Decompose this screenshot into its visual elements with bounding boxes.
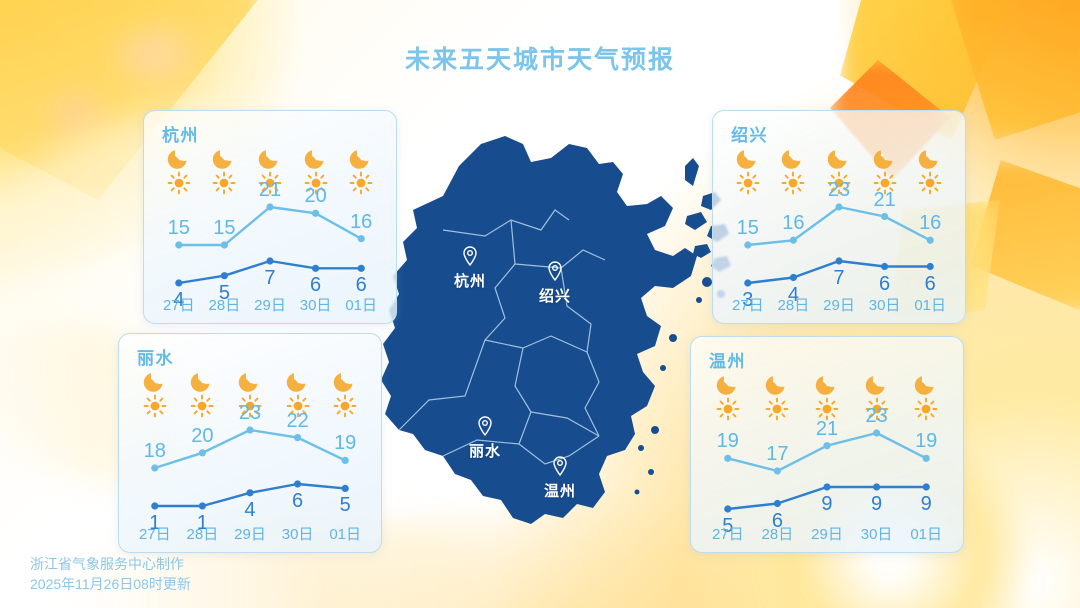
forecast-day-column: 21729日: [247, 111, 293, 323]
forecast-day-column: 17628日: [753, 337, 803, 552]
forecast-date-label: 28日: [202, 294, 248, 315]
forecast-date-label: 28日: [753, 523, 803, 544]
forecast-day-column: 15427日: [156, 111, 202, 323]
weather-icon-day: [771, 171, 817, 200]
high-temp-value: 21: [862, 189, 908, 212]
moon-icon: [735, 145, 761, 171]
high-temp-value: 15: [725, 217, 771, 240]
low-temp-value: 9: [852, 493, 902, 516]
weather-icon-day: [131, 394, 179, 423]
forecast-day-column: 21630日: [862, 111, 908, 323]
high-temp-value: 20: [179, 425, 227, 448]
forecast-date-label: 27日: [703, 523, 753, 544]
forecast-day-column: 18127日: [131, 334, 179, 552]
moon-icon: [872, 145, 898, 171]
moon-icon: [780, 145, 806, 171]
high-temp-value: 18: [131, 440, 179, 463]
forecast-day-column: 16601日: [338, 111, 384, 323]
sun-icon: [914, 397, 938, 421]
footer-line-2: 2025年11月26日08时更新: [30, 574, 191, 594]
forecast-day-column: 20630日: [293, 111, 339, 323]
forecast-date-label: 01日: [907, 294, 953, 315]
forecast-day-column: 23729日: [816, 111, 862, 323]
high-temp-value: 21: [247, 179, 293, 202]
forecast-date-label: 30日: [862, 294, 908, 315]
sun-icon: [918, 171, 942, 195]
weather-icon-day: [753, 397, 803, 426]
weather-icon-day: [907, 171, 953, 200]
forecast-day-column: 15528日: [202, 111, 248, 323]
map-label-hangzhou: 杭州: [454, 270, 486, 291]
forecast-date-label: 27日: [725, 294, 771, 315]
high-temp-value: 19: [321, 432, 369, 455]
sun-icon: [781, 171, 805, 195]
forecast-day-column: 19901日: [901, 337, 951, 552]
high-temp-value: 23: [226, 402, 274, 425]
map-container: 杭州 绍兴 丽水 温州: [355, 100, 735, 570]
high-temp-value: 23: [816, 179, 862, 202]
high-temp-value: 19: [901, 430, 951, 453]
weather-icon-day: [156, 171, 202, 200]
forecast-date-label: 30日: [293, 294, 339, 315]
high-temp-value: 16: [771, 212, 817, 235]
moon-icon: [913, 371, 939, 397]
moon-icon: [332, 368, 358, 394]
footer-credit: 浙江省气象服务中心制作 2025年11月26日08时更新: [30, 554, 191, 594]
map-label-wenzhou: 温州: [544, 480, 576, 501]
sun-icon: [212, 171, 236, 195]
forecast-day-column: 16428日: [771, 111, 817, 323]
forecast-panel-shaoxing: 绍兴 15327日 16428日 237: [712, 110, 966, 324]
forecast-panel-wenzhou: 温州 19527日 17628日 219: [690, 336, 964, 553]
sun-icon: [143, 394, 167, 418]
forecast-day-column: 15327日: [725, 111, 771, 323]
forecast-date-label: 30日: [274, 523, 322, 544]
map-pin-shaoxing: [547, 261, 563, 286]
forecast-date-label: 01日: [338, 294, 384, 315]
weather-icon-day: [338, 171, 384, 200]
map-pin-wenzhou: [552, 456, 568, 481]
high-temp-value: 20: [293, 185, 339, 208]
forecast-day-column: 23429日: [226, 334, 274, 552]
moon-icon: [917, 145, 943, 171]
forecast-panel-lishui: 丽水 18127日 20128日 234: [118, 333, 382, 553]
sun-icon: [167, 171, 191, 195]
moon-icon: [257, 145, 283, 171]
low-temp-value: 6: [907, 273, 953, 296]
low-temp-value: 9: [901, 493, 951, 516]
moon-icon: [237, 368, 263, 394]
low-temp-value: 6: [862, 273, 908, 296]
weather-icon-day: [202, 171, 248, 200]
forecast-day-column: 20128日: [179, 334, 227, 552]
sun-icon: [190, 394, 214, 418]
high-temp-value: 16: [907, 212, 953, 235]
forecast-date-label: 01日: [321, 523, 369, 544]
weather-icon-day: [725, 171, 771, 200]
forecast-date-label: 29日: [816, 294, 862, 315]
moon-icon: [189, 368, 215, 394]
weather-icon-day: [901, 397, 951, 426]
weather-icon-day: [703, 397, 753, 426]
low-temp-value: 9: [802, 493, 852, 516]
high-temp-value: 15: [156, 217, 202, 240]
moon-icon: [285, 368, 311, 394]
map-label-lishui: 丽水: [469, 440, 501, 461]
moon-icon: [864, 371, 890, 397]
moon-icon: [814, 371, 840, 397]
forecast-date-label: 30日: [852, 523, 902, 544]
sun-icon: [736, 171, 760, 195]
decor-blob-tl-2: [50, 95, 100, 133]
forecast-day-column: 19527日: [703, 337, 753, 552]
moon-icon: [826, 145, 852, 171]
forecast-date-label: 29日: [226, 523, 274, 544]
sun-icon: [765, 397, 789, 421]
sun-icon: [349, 171, 373, 195]
high-temp-value: 21: [802, 418, 852, 441]
forecast-date-label: 29日: [802, 523, 852, 544]
low-temp-value: 7: [247, 267, 293, 290]
moon-icon: [348, 145, 374, 171]
forecast-day-column: 21929日: [802, 337, 852, 552]
moon-icon: [166, 145, 192, 171]
moon-icon: [764, 371, 790, 397]
forecast-date-label: 27日: [156, 294, 202, 315]
weather-icon-day: [321, 394, 369, 423]
map-pin-lishui: [477, 416, 493, 441]
map-pin-hangzhou: [462, 246, 478, 271]
forecast-date-label: 27日: [131, 523, 179, 544]
forecast-day-column: 22630日: [274, 334, 322, 552]
low-temp-value: 6: [274, 490, 322, 513]
footer-line-1: 浙江省气象服务中心制作: [30, 554, 191, 574]
high-temp-value: 16: [338, 211, 384, 234]
sun-icon: [333, 394, 357, 418]
forecast-panel-hangzhou: 杭州 15427日 15528日 217: [143, 110, 397, 324]
moon-icon: [303, 145, 329, 171]
moon-icon: [142, 368, 168, 394]
low-temp-value: 4: [226, 499, 274, 522]
forecast-date-label: 28日: [771, 294, 817, 315]
moon-icon: [715, 371, 741, 397]
high-temp-value: 22: [274, 410, 322, 433]
low-temp-value: 5: [321, 494, 369, 517]
map-label-shaoxing: 绍兴: [539, 285, 571, 306]
moon-icon: [211, 145, 237, 171]
low-temp-value: 7: [816, 267, 862, 290]
forecast-date-label: 29日: [247, 294, 293, 315]
forecast-day-column: 23930日: [852, 337, 902, 552]
weather-forecast-graphic: 未来五天城市天气预报: [0, 0, 1080, 608]
page-title: 未来五天城市天气预报: [0, 40, 1080, 76]
high-temp-value: 17: [753, 443, 803, 466]
sun-icon: [716, 397, 740, 421]
high-temp-value: 19: [703, 430, 753, 453]
forecast-date-label: 28日: [179, 523, 227, 544]
weather-icon-day: [179, 394, 227, 423]
forecast-date-label: 01日: [901, 523, 951, 544]
high-temp-value: 23: [852, 405, 902, 428]
forecast-day-column: 19501日: [321, 334, 369, 552]
high-temp-value: 15: [202, 217, 248, 240]
forecast-day-column: 16601日: [907, 111, 953, 323]
